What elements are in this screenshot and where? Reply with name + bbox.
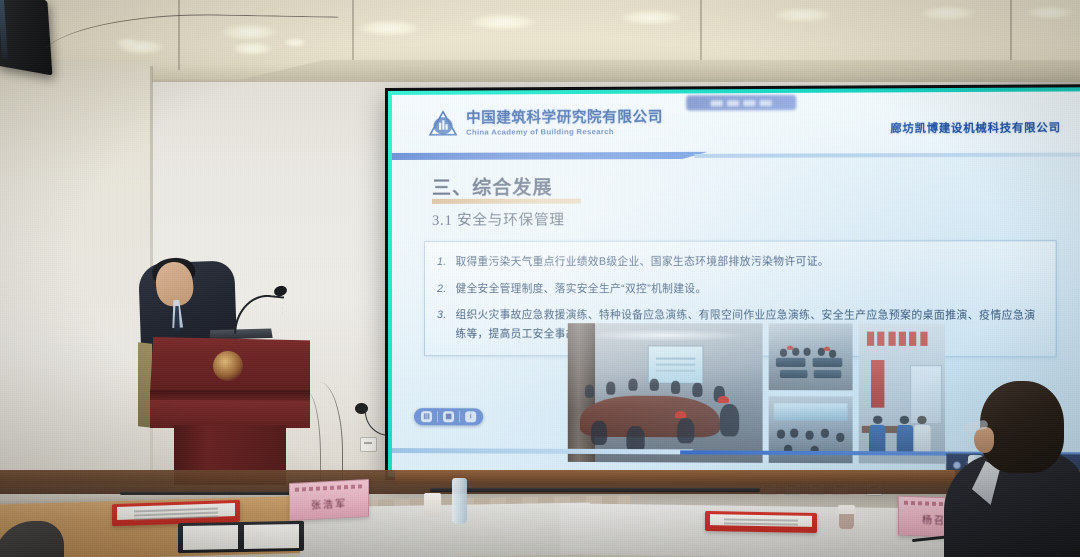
- ceiling-light: [774, 8, 832, 22]
- collage-photo-workers: [859, 324, 945, 464]
- wall-outlet[interactable]: [360, 437, 377, 452]
- ceiling-light: [620, 10, 682, 25]
- seated-attendee-foreground: [944, 381, 1080, 557]
- name-placard: 张浩军: [289, 479, 369, 521]
- wall-left-column: [0, 60, 152, 480]
- folder-paper: [710, 514, 812, 527]
- ceiling-light: [1026, 6, 1074, 19]
- ceiling-light: [470, 14, 536, 30]
- ceiling-seam: [1010, 0, 1012, 70]
- section-title-underline: [432, 199, 581, 204]
- bullet-number: 3.: [437, 306, 447, 343]
- ceiling-light: [358, 20, 420, 36]
- partner-company-name: 廊坊凯博建设机械科技有限公司: [890, 119, 1060, 136]
- collage-photo-training: [769, 323, 853, 390]
- open-notebook[interactable]: [178, 521, 304, 553]
- bullet-text: 健全安全管理制度、落实安全生产“双控”机制建设。: [456, 279, 1041, 298]
- placard-name: 张浩军: [290, 494, 368, 513]
- lectern-side-panel: [138, 342, 152, 427]
- folder-paper: [117, 503, 235, 520]
- grid-icon[interactable]: ▦: [443, 411, 454, 422]
- bullet-number: 2.: [437, 280, 447, 299]
- paper-cup: [838, 505, 855, 531]
- conference-microphone[interactable]: [392, 478, 428, 512]
- slide-sub-title: 3.1 安全与环保管理: [432, 209, 565, 230]
- cable-bundle: [430, 488, 760, 492]
- red-certificate-folder[interactable]: [705, 511, 817, 533]
- page-icon[interactable]: ▤: [421, 411, 432, 422]
- ceiling-seam: [352, 0, 354, 70]
- ceiling-speaker-icon: [0, 0, 53, 76]
- screenshot-root: 中国建筑科学研究院有限公司 China Academy of Building …: [0, 0, 1080, 557]
- bullet-number: 1.: [437, 253, 447, 272]
- slide-pill-widget[interactable]: ▤ ▦ i: [414, 408, 483, 425]
- brand-name-en: China Academy of Building Research: [466, 128, 663, 136]
- paper-cup: [424, 493, 441, 517]
- ceiling-light: [920, 6, 976, 20]
- bullet-text: 取得重污染天气重点行业绩效B级企业、国家生态环境部排放污染物许可证。: [456, 252, 1041, 271]
- slide-section-title: 三、综合发展: [432, 172, 553, 199]
- podium-microphone-icon: [230, 286, 286, 334]
- collage-photo-meeting-room: [568, 323, 763, 463]
- collage-column-middle: [769, 323, 853, 463]
- cabr-shield-icon: [428, 111, 458, 138]
- ceiling-seam: [700, 0, 702, 70]
- lectern-emblem-icon: [213, 351, 243, 381]
- wall-microphone-icon: [355, 403, 389, 433]
- lectern-front-panel: [150, 337, 310, 393]
- brand-lockup: 中国建筑科学研究院有限公司 China Academy of Building …: [428, 110, 663, 138]
- info-icon[interactable]: i: [465, 411, 476, 422]
- header-divider: [392, 150, 1080, 159]
- floating-toolbar[interactable]: [686, 95, 796, 111]
- water-bottle: [452, 478, 467, 524]
- brand-name-cn: 中国建筑科学研究院有限公司: [466, 111, 663, 126]
- wood-rail: [395, 470, 955, 484]
- list-item: 2. 健全安全管理制度、落实安全生产“双控”机制建设。: [437, 279, 1041, 298]
- list-item: 1. 取得重污染天气重点行业绩效B级企业、国家生态环境部排放污染物许可证。: [437, 252, 1041, 271]
